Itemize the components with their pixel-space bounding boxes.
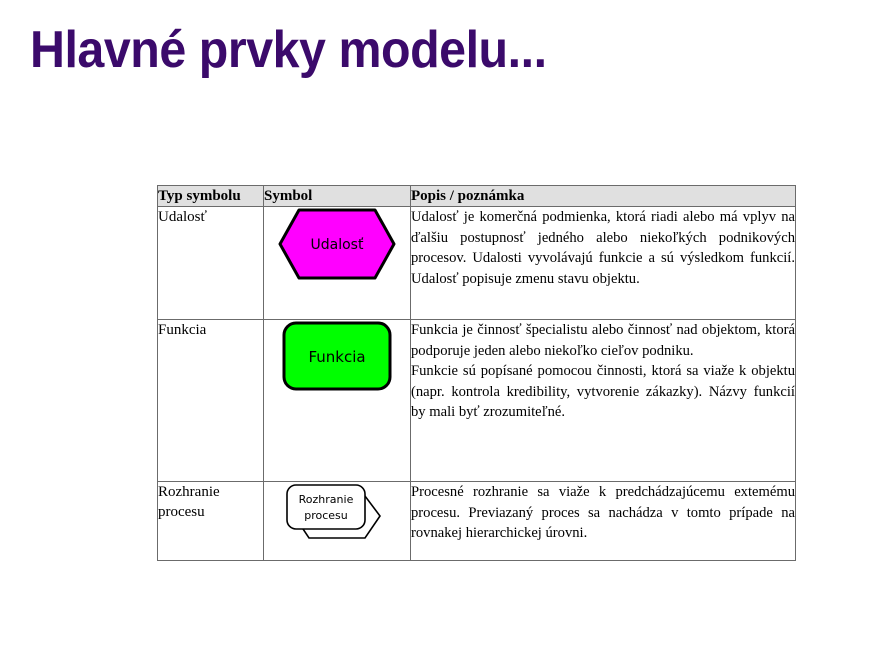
- row-description-rozhranie: Procesné rozhranie sa viaže k predchádza…: [411, 482, 796, 561]
- row-symbol-cell-udalost: Udalosť: [264, 207, 411, 320]
- process-interface-symbol: Rozhranie procesu: [265, 482, 410, 550]
- event-hexagon-icon: Udalosť: [277, 207, 397, 281]
- table-row: Udalosť Udalosť Udalosť je komerčná podm…: [158, 207, 796, 320]
- page-title: Hlavné prvky modelu...: [30, 21, 547, 79]
- description-paragraph: Procesné rozhranie sa viaže k predchádza…: [411, 482, 795, 544]
- row-type-label-rozhranie-procesu: Rozhranie procesu: [158, 482, 264, 561]
- process-interface-label-line2: procesu: [304, 509, 348, 522]
- event-symbol: Udalosť: [265, 207, 410, 281]
- row-type-label-funkcia: Funkcia: [158, 320, 264, 482]
- event-hexagon-label: Udalosť: [311, 237, 364, 253]
- row-symbol-cell-rozhranie: Rozhranie procesu: [264, 482, 411, 561]
- description-paragraph: Udalosť je komerčná podmienka, ktorá ria…: [411, 207, 795, 289]
- function-rounded-rect-icon: Funkcia: [281, 320, 393, 392]
- column-header-typ-symbolu: Typ symbolu: [158, 186, 264, 207]
- table-row: Funkcia Funkcia Funkcia je činnosť špeci…: [158, 320, 796, 482]
- function-rect-label: Funkcia: [308, 348, 365, 366]
- description-paragraph: Funkcie sú popísané pomocou činnosti, kt…: [411, 361, 795, 423]
- table-body: Udalosť Udalosť Udalosť je komerčná podm…: [158, 207, 796, 561]
- row-description-funkcia: Funkcia je činnosť špecialistu alebo čin…: [411, 320, 796, 482]
- process-interface-icon: Rozhranie procesu: [283, 482, 391, 550]
- description-paragraph: Funkcia je činnosť špecialistu alebo čin…: [411, 320, 795, 361]
- process-interface-label-line1: Rozhranie: [299, 493, 354, 506]
- row-description-udalost: Udalosť je komerčná podmienka, ktorá ria…: [411, 207, 796, 320]
- column-header-popis-poznamka: Popis / poznámka: [411, 186, 796, 207]
- row-symbol-cell-funkcia: Funkcia: [264, 320, 411, 482]
- symbol-legend-table: Typ symbolu Symbol Popis / poznámka Udal…: [157, 185, 796, 561]
- table-row: Rozhranie procesu Rozhranie procesu Proc…: [158, 482, 796, 561]
- column-header-symbol: Symbol: [264, 186, 411, 207]
- table-header: Typ symbolu Symbol Popis / poznámka: [158, 186, 796, 207]
- row-type-label-udalost: Udalosť: [158, 207, 264, 320]
- process-interface-rect-shape: [287, 485, 365, 529]
- table-header-row: Typ symbolu Symbol Popis / poznámka: [158, 186, 796, 207]
- function-symbol: Funkcia: [265, 320, 410, 392]
